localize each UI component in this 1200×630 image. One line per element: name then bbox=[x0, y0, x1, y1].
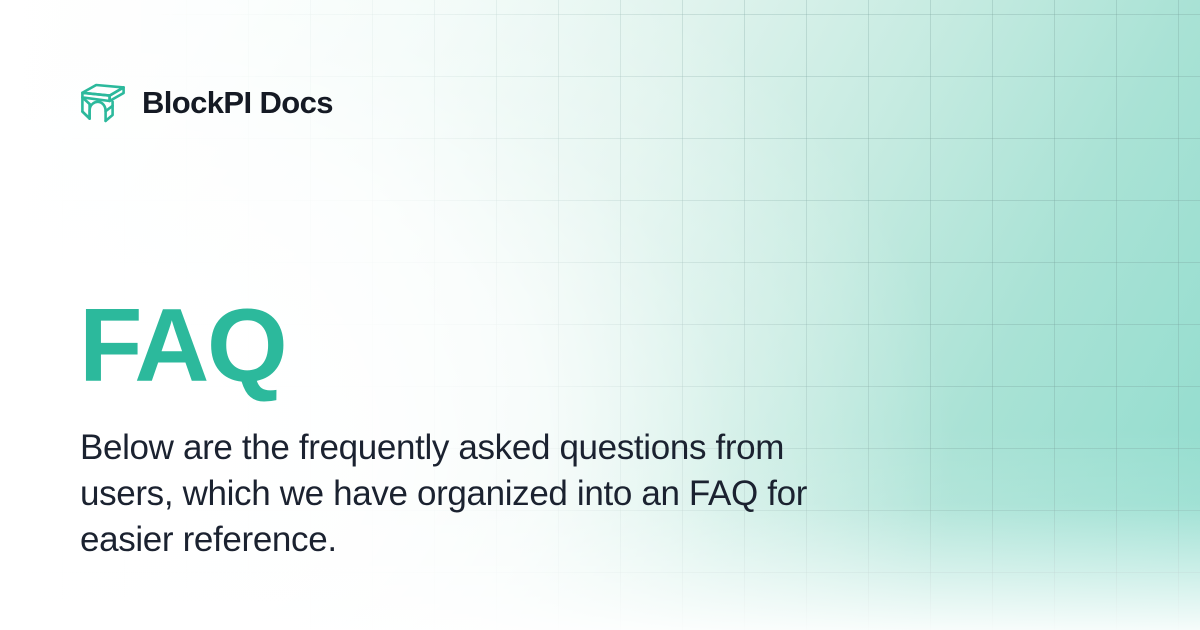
page-description: Below are the frequently asked questions… bbox=[80, 425, 880, 564]
brand-name-label: BlockPI Docs bbox=[142, 87, 333, 118]
page-title: FAQ bbox=[79, 294, 285, 398]
blockpi-arch-logo-icon bbox=[79, 80, 127, 124]
og-preview-card: BlockPI Docs FAQ Below are the frequentl… bbox=[0, 0, 1200, 630]
brand-lockup[interactable]: BlockPI Docs bbox=[79, 80, 333, 124]
card-content: BlockPI Docs FAQ Below are the frequentl… bbox=[0, 0, 1200, 630]
